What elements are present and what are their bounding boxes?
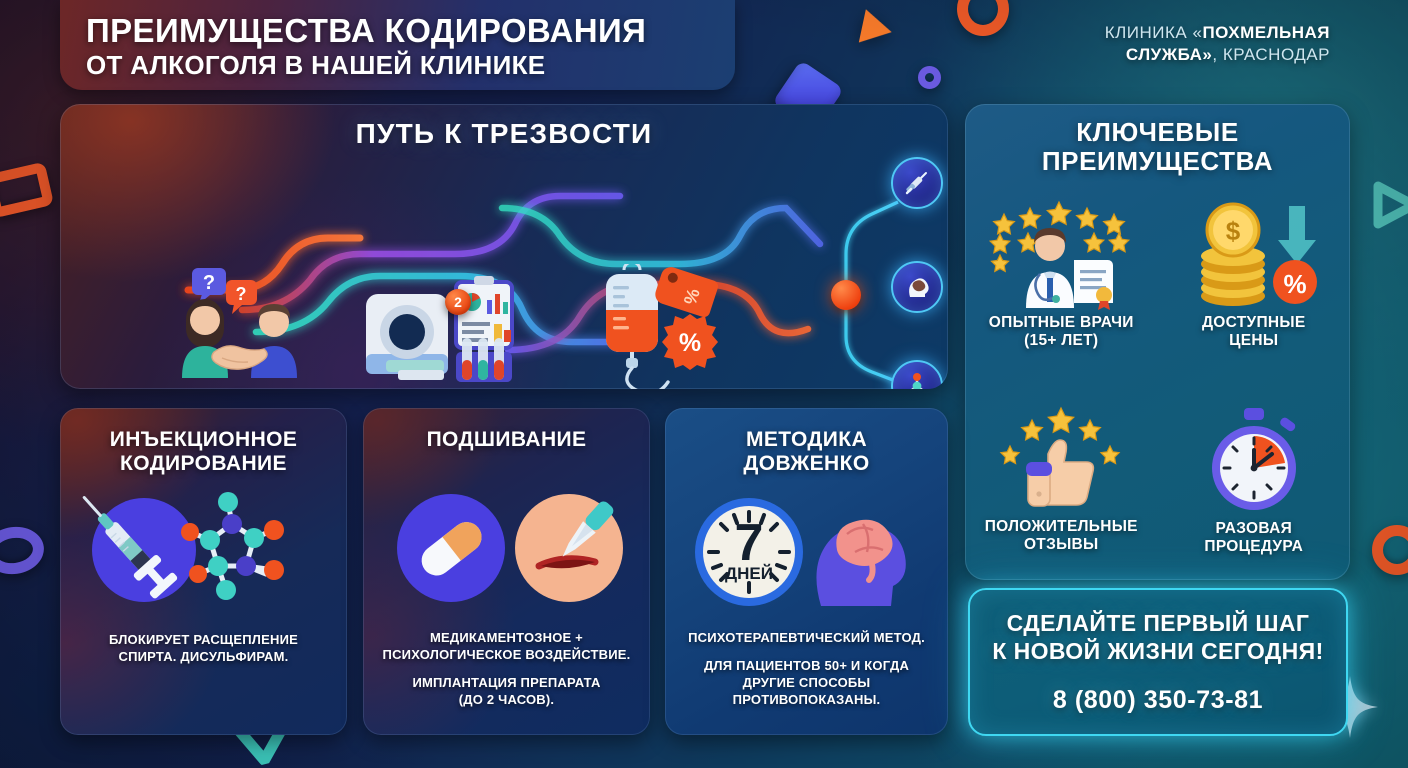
svg-text:$: $ [1226, 216, 1241, 246]
branch-syringe-circle [891, 157, 943, 209]
thumbs-up-stars-icon [986, 406, 1136, 516]
card2-title: ПОДШИВАНИЕ [363, 428, 650, 452]
key-benefits-panel: КЛЮЧЕВЫЕ ПРЕИМУЩЕСТВА [965, 104, 1350, 580]
card1-title: ИНЪЕКЦИОННОЕКОДИРОВАНИЕ [60, 428, 347, 476]
capsule-incision-icon [391, 488, 629, 608]
benefits-title-line2: ПРЕИМУЩЕСТВА [1042, 146, 1273, 176]
syringe-icon [902, 168, 932, 198]
branch-brain-circle [891, 261, 943, 313]
cta-headline: СДЕЛАЙТЕ ПЕРВЫЙ ШАГК НОВОЙ ЖИЗНИ СЕГОДНЯ… [970, 610, 1346, 665]
benefit-item-doctors: ОПЫТНЫЕ ВРАЧИ(15+ ЛЕТ) [965, 200, 1158, 350]
card3-title: МЕТОДИКАДОВЖЕНКО [665, 428, 948, 476]
journey-panel: ПУТЬ К ТРЕЗВОСТИ [60, 104, 948, 389]
benefit-label-prices: ДОСТУПНЫЕЦЕНЫ [1158, 314, 1351, 350]
benefit-label-single-procedure: РАЗОВАЯПРОЦЕДУРА [1158, 520, 1351, 556]
page-title-line2: ОТ АЛКОГОЛЯ В НАШЕЙ КЛИНИКЕ [86, 50, 735, 81]
benefit-item-single-procedure: РАЗОВАЯПРОЦЕДУРА [1158, 406, 1351, 556]
svg-text:?: ? [203, 272, 215, 294]
svg-text:%: % [1283, 269, 1306, 299]
svg-text:?: ? [236, 284, 247, 304]
card3-body-line1: ПСИХОТЕРАПЕВТИЧЕСКИЙ МЕТОД. [677, 630, 936, 647]
svg-text:%: % [679, 329, 701, 357]
benefit-item-prices: $ % ДОСТУПНЫЕЦЕНЫ [1158, 200, 1351, 350]
key-benefits-title: КЛЮЧЕВЫЕ ПРЕИМУЩЕСТВА [965, 118, 1350, 176]
benefit-label-reviews: ПОЛОЖИТЕЛЬНЫЕОТЗЫВЫ [965, 518, 1158, 554]
card3-body-line2: ДЛЯ ПАЦИЕНТОВ 50+ И КОГДАДРУГИЕ СПОСОБЫП… [677, 658, 936, 709]
coins-discount-icon: $ % [1189, 200, 1319, 310]
method-card-injection: ИНЪЕКЦИОННОЕКОДИРОВАНИЕ [60, 408, 347, 735]
method-card-dovzhenko: МЕТОДИКАДОВЖЕНКО 7 ДНЕЙ ПСИХОТЕРАПЕВТИЧЕ… [665, 408, 948, 735]
doctor-certificate-stars-icon [986, 200, 1136, 310]
header-banner: ПРЕИМУЩЕСТВА КОДИРОВАНИЯ ОТ АЛКОГОЛЯ В Н… [60, 0, 735, 90]
ct-scanner-diagnostics-icon [360, 274, 530, 389]
page-title-line1: ПРЕИМУЩЕСТВА КОДИРОВАНИЯ [86, 14, 735, 48]
cta-panel[interactable]: СДЕЛАЙТЕ ПЕРВЫЙ ШАГК НОВОЙ ЖИЗНИ СЕГОДНЯ… [968, 588, 1348, 736]
clock-7days-brainhead-icon: 7 ДНЕЙ [689, 494, 927, 612]
syringe-molecule-icon [82, 484, 332, 612]
clinic-name: КЛИНИКА «ПОХМЕЛЬНАЯ СЛУЖБА», КРАСНОДАР [1030, 22, 1330, 67]
card3-body: ПСИХОТЕРАПЕВТИЧЕСКИЙ МЕТОД. ДЛЯ ПАЦИЕНТО… [665, 630, 948, 709]
card2-body: МЕДИКАМЕНТОЗНОЕ +ПСИХОЛОГИЧЕСКОЕ ВОЗДЕЙС… [363, 630, 650, 709]
clinic-prefix: КЛИНИКА « [1105, 23, 1203, 42]
clock-unit: ДНЕЙ [725, 564, 773, 583]
head-brain-icon [902, 272, 932, 302]
benefit-label-doctors: ОПЫТНЫЕ ВРАЧИ(15+ ЛЕТ) [965, 314, 1158, 350]
card1-body-line: БЛОКИРУЕТ РАСЩЕПЛЕНИЕСПИРТА. ДИСУЛЬФИРАМ… [72, 632, 335, 666]
molecule-icon [902, 371, 932, 389]
cta-phone-number[interactable]: 8 (800) 350-73-81 [970, 686, 1346, 715]
stopwatch-icon [1194, 406, 1314, 516]
step-badge-2-top: 2 [445, 289, 471, 315]
benefit-item-reviews: ПОЛОЖИТЕЛЬНЫЕОТЗЫВЫ [965, 406, 1158, 554]
card1-body: БЛОКИРУЕТ РАСЩЕПЛЕНИЕСПИРТА. ДИСУЛЬФИРАМ… [60, 632, 347, 666]
card2-body-line2: ИМПЛАНТАЦИЯ ПРЕПАРАТА(ДО 2 ЧАСОВ). [375, 675, 638, 709]
clinic-suffix: , КРАСНОДАР [1212, 45, 1330, 64]
iv-drip-discount-icon: % % [580, 264, 740, 389]
benefits-title-line1: КЛЮЧЕВЫЕ [1076, 117, 1239, 147]
final-node-dot [831, 280, 861, 310]
card2-body-line1: МЕДИКАМЕНТОЗНОЕ +ПСИХОЛОГИЧЕСКОЕ ВОЗДЕЙС… [375, 630, 638, 664]
handshake-consultation-icon: ? ? [170, 266, 310, 384]
method-card-implant: ПОДШИВАНИЕ МЕДИКАМЕНТОЗНОЕ +ПСИХОЛОГИЧЕС… [363, 408, 650, 735]
